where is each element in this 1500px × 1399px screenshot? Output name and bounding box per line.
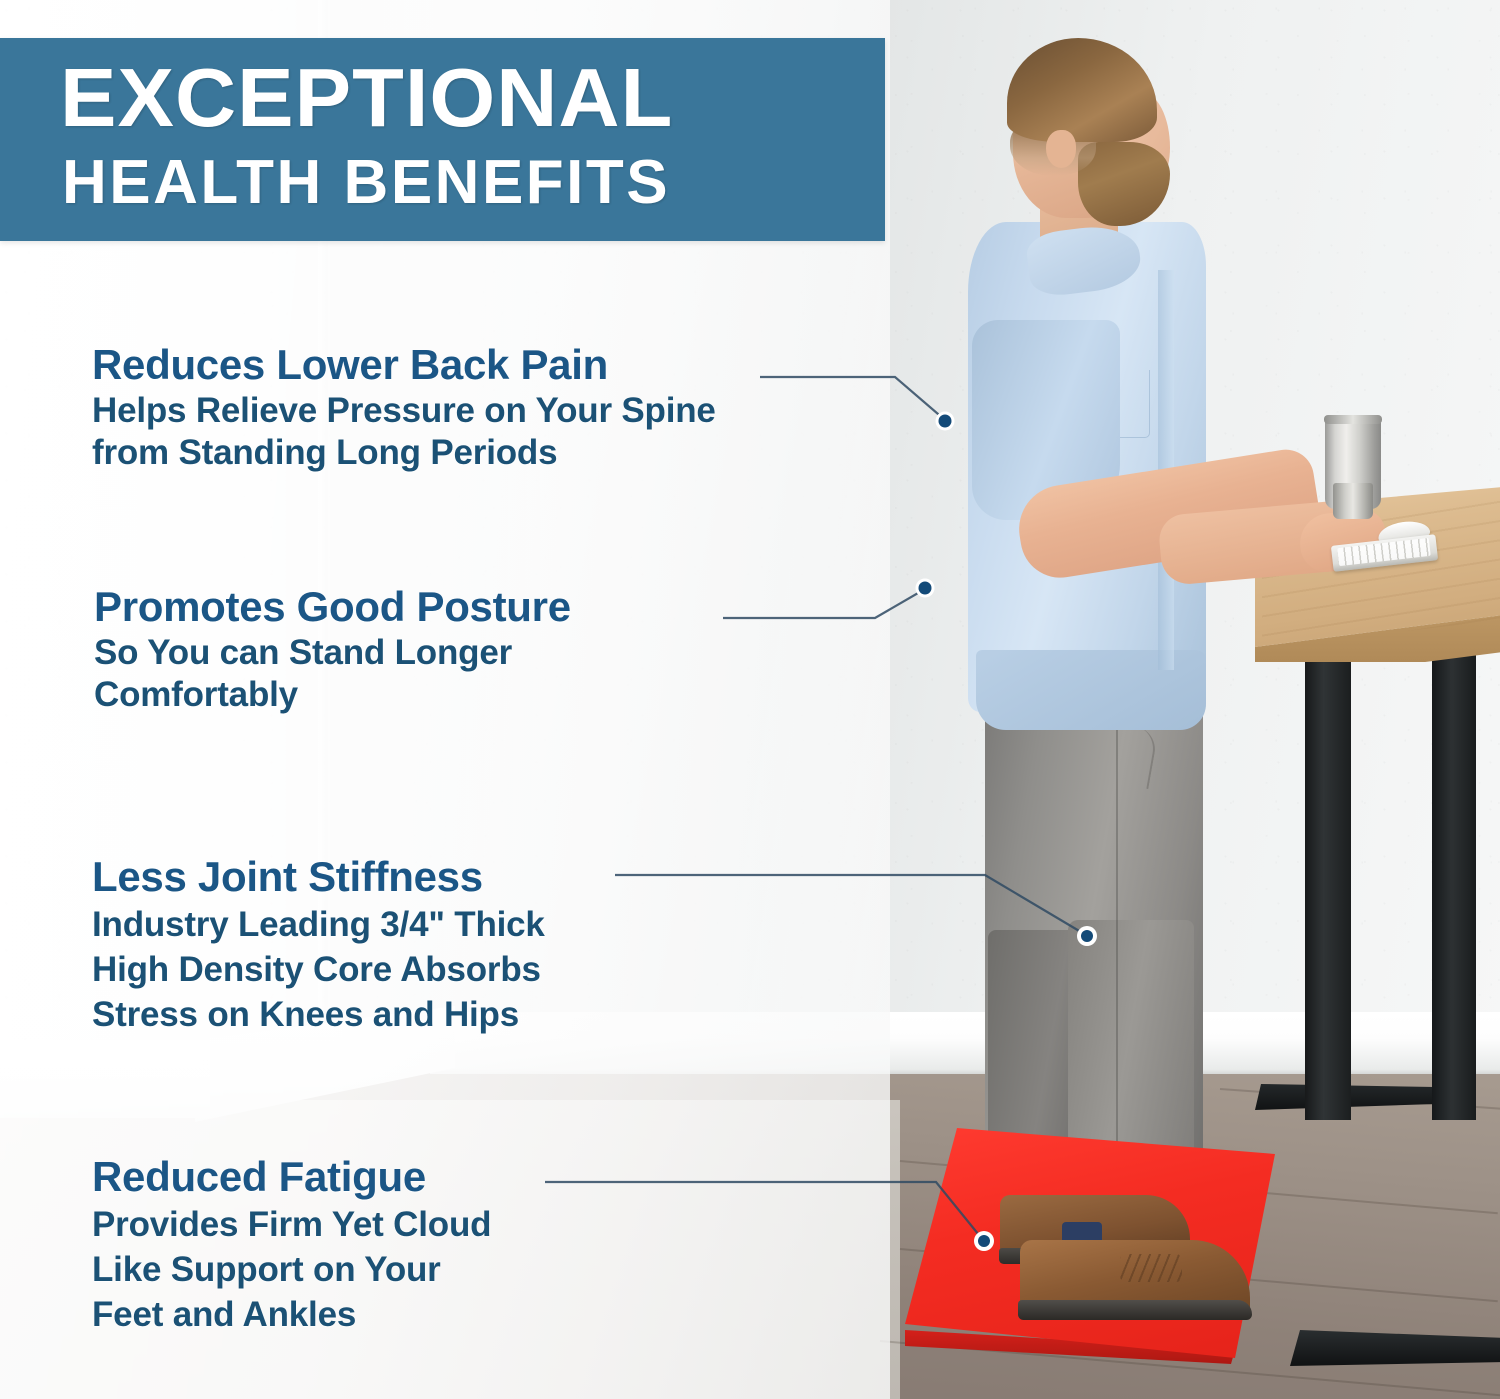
benefit-title: Reduced Fatigue <box>92 1152 491 1202</box>
header-title-line1: EXCEPTIONAL <box>60 50 673 146</box>
benefit-line: Stress on Knees and Hips <box>92 992 545 1037</box>
tumbler-base <box>1333 483 1373 519</box>
benefit-block-less-joint-stiffness: Less Joint Stiffness Industry Leading 3/… <box>92 852 545 1037</box>
desk-leg-rear <box>1305 660 1351 1120</box>
benefit-line: Like Support on Your <box>92 1247 491 1292</box>
benefit-title: Reduces Lower Back Pain <box>92 340 716 390</box>
benefit-line: Industry Leading 3/4" Thick <box>92 902 545 947</box>
benefit-line: So You can Stand Longer <box>94 632 571 674</box>
benefit-block-promotes-good-posture: Promotes Good Posture So You can Stand L… <box>94 582 571 716</box>
benefit-line: Comfortably <box>94 674 571 716</box>
benefit-block-reduced-fatigue: Reduced Fatigue Provides Firm Yet Cloud … <box>92 1152 491 1337</box>
benefit-line: Helps Relieve Pressure on Your Spine <box>92 390 716 432</box>
person-shoe-front-sole <box>1018 1300 1252 1320</box>
person-shoe-laces <box>1120 1254 1182 1282</box>
benefit-title: Promotes Good Posture <box>94 582 571 632</box>
benefit-line: Provides Firm Yet Cloud <box>92 1202 491 1247</box>
infographic-canvas: EXCEPTIONAL HEALTH BENEFITS Reduces Lowe… <box>0 0 1500 1399</box>
header-banner: EXCEPTIONAL HEALTH BENEFITS <box>0 38 885 241</box>
tumbler-lip <box>1324 415 1382 424</box>
benefit-title: Less Joint Stiffness <box>92 852 545 902</box>
desk-leg-front <box>1432 640 1476 1120</box>
header-title-line2: HEALTH BENEFITS <box>62 146 670 220</box>
benefit-line: Feet and Ankles <box>92 1292 491 1337</box>
benefit-line: High Density Core Absorbs <box>92 947 545 992</box>
benefit-line: from Standing Long Periods <box>92 432 716 474</box>
person-ear <box>1046 130 1076 168</box>
benefit-block-reduces-lower-back-pain: Reduces Lower Back Pain Helps Relieve Pr… <box>92 340 716 474</box>
